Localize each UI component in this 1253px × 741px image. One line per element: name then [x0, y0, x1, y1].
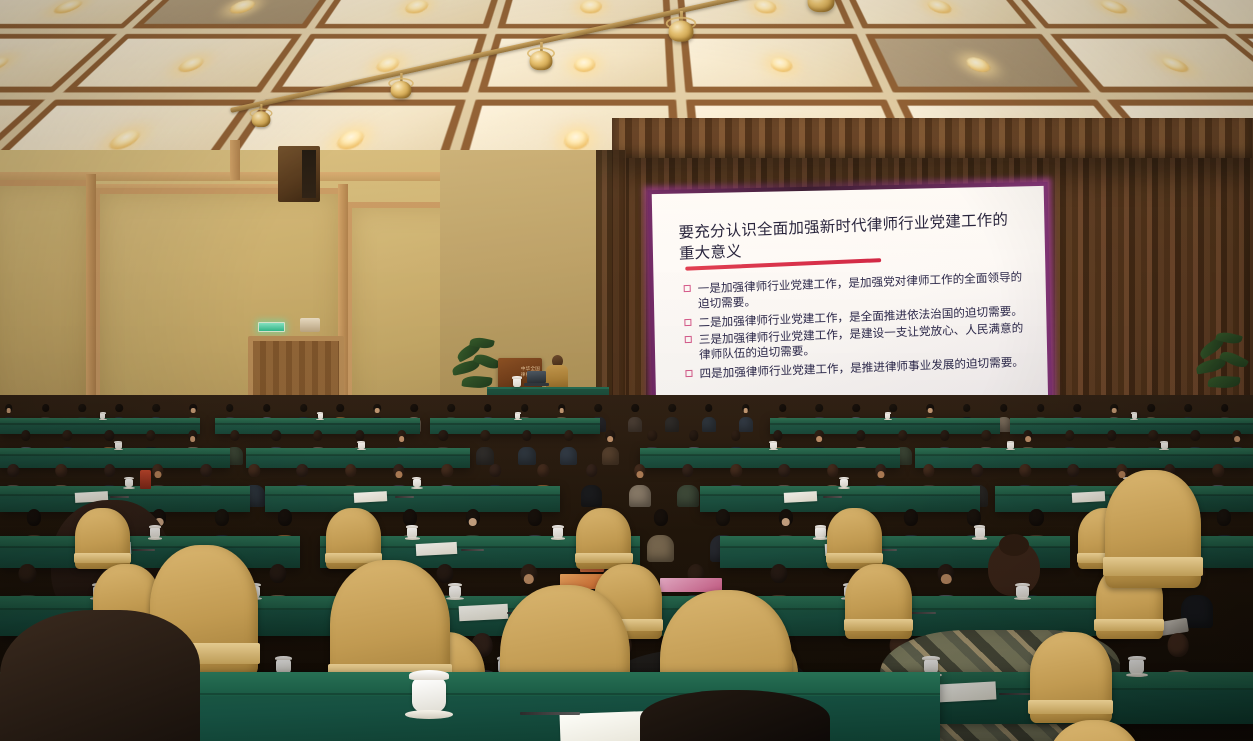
slide-bullet-list: 一是加强律师行业党建工作，是加强党对律师工作的全面领导的迫切需要。二是加强律师行…	[680, 273, 1026, 380]
banquet-table	[0, 536, 300, 568]
person-head	[940, 430, 949, 441]
person-head	[682, 464, 694, 477]
person-torso	[602, 447, 620, 465]
projection-screen-frame: 要充分认识全面加强新时代律师行业党建工作的重大意义 一是加强律师行业党建工作，是…	[648, 182, 1053, 420]
teacup-icon	[100, 413, 105, 418]
person-head	[300, 404, 308, 413]
speaker-at-table	[546, 355, 568, 391]
person-face	[816, 436, 822, 442]
person-torso	[560, 447, 578, 465]
person-head	[856, 430, 865, 441]
person-head	[1212, 464, 1224, 477]
person-head	[586, 464, 598, 477]
person-head	[631, 404, 639, 413]
person-head	[1068, 464, 1080, 477]
person-face	[1025, 436, 1031, 442]
downlight-icon	[564, 131, 589, 149]
audience-member	[633, 464, 647, 500]
person-head	[1147, 404, 1155, 413]
person-head	[853, 404, 861, 413]
bullet-square-icon	[685, 336, 692, 343]
person-head	[79, 404, 87, 413]
laptop-icon	[527, 371, 546, 383]
person-head	[8, 464, 20, 477]
teacup-icon	[515, 413, 520, 418]
person-head	[297, 464, 309, 477]
person-face	[877, 471, 884, 478]
person-head	[19, 564, 36, 584]
person-head	[152, 404, 160, 413]
person-head	[1074, 404, 1082, 413]
person-head	[889, 404, 897, 413]
audience-member	[585, 464, 599, 500]
teacup-icon	[885, 413, 890, 418]
person-torso	[581, 485, 603, 507]
person-head	[522, 430, 531, 441]
person-head	[355, 430, 364, 441]
audience-member	[631, 404, 640, 428]
teacup-icon	[150, 527, 160, 537]
person-head	[1020, 464, 1032, 477]
wall-panel-1	[0, 180, 92, 430]
person-head	[272, 430, 281, 441]
person-torso	[518, 447, 536, 465]
person-head	[982, 430, 991, 441]
person-face	[636, 471, 643, 478]
spotlight-icon	[391, 73, 412, 100]
person-torso	[665, 417, 679, 432]
teacup-icon-stage	[513, 378, 521, 387]
person-head	[538, 464, 550, 477]
person-head	[898, 430, 907, 441]
person-torso	[647, 535, 674, 562]
person-head	[1037, 404, 1045, 413]
person-face	[1112, 408, 1117, 413]
pen-icon	[999, 693, 1034, 695]
teacup-icon-foreground	[412, 678, 446, 712]
projection-screen: 要充分认识全面加强新时代律师行业党建工作的重大意义 一是加强律师行业党建工作，是…	[652, 186, 1049, 416]
person-torso	[677, 485, 699, 507]
person-head	[146, 430, 155, 441]
person-head	[21, 430, 30, 441]
banquet-table	[1010, 418, 1253, 434]
spotlight-icon	[808, 0, 835, 15]
person-head	[648, 430, 657, 441]
person-face	[468, 518, 477, 526]
person-head	[971, 464, 983, 477]
teacup-icon	[1132, 413, 1137, 418]
person-head	[705, 404, 713, 413]
audience-member	[681, 464, 695, 500]
person-head	[437, 564, 454, 584]
teacup-icon	[115, 442, 122, 449]
teacup-icon	[318, 413, 323, 418]
chair	[827, 508, 882, 569]
teacup-icon	[815, 527, 825, 537]
person-head	[215, 509, 229, 525]
person-face	[608, 436, 614, 442]
person-head	[1217, 509, 1231, 525]
banquet-table	[265, 486, 560, 512]
person-face	[375, 408, 380, 413]
teacup-icon	[358, 442, 365, 449]
audience-member	[999, 404, 1008, 428]
person-head	[42, 404, 50, 413]
chair	[576, 508, 631, 569]
person-head	[689, 430, 698, 441]
person-head	[1029, 509, 1043, 525]
person-head	[489, 464, 501, 477]
person-head	[263, 404, 271, 413]
drink-bottle	[140, 470, 151, 489]
pen-icon-foreground	[520, 712, 580, 715]
person-head	[1190, 430, 1199, 441]
person-head	[104, 464, 116, 477]
chair-foreground-far-right	[1105, 470, 1201, 588]
teacup-icon	[1161, 442, 1168, 449]
teacup-icon	[770, 442, 777, 449]
person-face	[399, 436, 405, 442]
person-face	[190, 436, 196, 442]
audience-member	[741, 404, 750, 428]
person-head	[521, 404, 529, 413]
person-head	[1107, 430, 1116, 441]
person-head	[564, 430, 573, 441]
teacup-icon	[840, 479, 848, 487]
person-head	[447, 404, 455, 413]
chair	[75, 508, 130, 569]
chair	[845, 564, 912, 639]
audience-member	[605, 430, 616, 459]
audience-member	[521, 430, 532, 459]
person-head	[56, 464, 68, 477]
person-head	[779, 464, 791, 477]
banquet-table	[430, 418, 600, 434]
person-head	[963, 404, 971, 413]
audience-member	[479, 430, 490, 459]
chair	[1030, 632, 1112, 723]
person-head	[269, 564, 286, 584]
person-torso	[628, 417, 642, 432]
person-head	[226, 404, 234, 413]
person-head	[313, 430, 322, 441]
exit-sign-icon	[258, 322, 285, 332]
person-head	[1149, 430, 1158, 441]
audience-member	[563, 430, 574, 459]
slide-title: 要充分认识全面加强新时代律师行业党建工作的重大意义	[678, 209, 1023, 266]
person-head	[105, 430, 114, 441]
person-head	[654, 509, 668, 525]
person-head	[528, 509, 542, 525]
person-head	[441, 464, 453, 477]
person-head	[484, 404, 492, 413]
teacup-icon	[1016, 586, 1028, 598]
person-head	[1221, 404, 1229, 413]
teacup-icon	[125, 479, 133, 487]
person-head	[668, 404, 676, 413]
conference-hall-photo: 要充分认识全面加强新时代律师行业党建工作的重大意义 一是加强律师行业党建工作，是…	[0, 0, 1253, 741]
banquet-table	[640, 448, 900, 468]
document-paper	[416, 542, 457, 557]
person-head	[439, 430, 448, 441]
person-head	[1065, 430, 1074, 441]
person-head	[923, 464, 935, 477]
downlight-icon	[580, 1, 602, 13]
hair-bun	[999, 534, 1029, 556]
person-head	[278, 509, 292, 525]
person-face	[6, 408, 11, 413]
banquet-table	[700, 486, 980, 512]
audience-member-foreground-center	[640, 690, 830, 741]
person-face	[1234, 436, 1240, 442]
chair	[326, 508, 381, 569]
teacup-icon	[413, 479, 421, 487]
pen-icon	[461, 549, 484, 551]
teacup-icon	[449, 586, 461, 598]
person-torso	[702, 417, 716, 432]
document-paper	[1072, 491, 1106, 503]
person-head	[1168, 633, 1189, 657]
audience-member-foreground-left	[0, 610, 200, 741]
spotlight-icon	[252, 104, 271, 128]
person-head	[1000, 404, 1008, 413]
audience-member	[667, 404, 676, 428]
person-head	[731, 430, 740, 441]
teacup-icon	[553, 527, 563, 537]
person-head	[200, 464, 212, 477]
person-face	[743, 408, 748, 413]
person-head	[779, 404, 787, 413]
person-torso	[476, 447, 494, 465]
bullet-square-icon	[684, 318, 691, 325]
person-head	[967, 509, 981, 525]
person-face	[395, 471, 402, 478]
wall-loudspeaker	[278, 146, 320, 202]
document-paper	[784, 491, 818, 503]
person-head	[730, 464, 742, 477]
bullet-square-icon	[685, 370, 692, 377]
teacup-icon	[1007, 442, 1014, 449]
person-head	[771, 564, 788, 584]
bullet-square-icon	[684, 285, 691, 292]
downlight-icon	[753, 1, 777, 13]
person-head	[773, 430, 782, 441]
wall-shelf-object	[300, 318, 320, 332]
person-face	[782, 518, 791, 526]
spotlight-icon	[530, 42, 553, 72]
person-head	[716, 509, 730, 525]
banquet-table	[246, 448, 470, 468]
person-head	[403, 509, 417, 525]
person-torso	[629, 485, 651, 507]
person-face	[559, 408, 564, 413]
document-paper	[353, 491, 387, 503]
person-face	[154, 471, 161, 478]
audience-member	[229, 430, 240, 459]
curtain-valance	[612, 118, 1253, 162]
pen-icon	[132, 549, 155, 551]
person-head	[230, 430, 239, 441]
audience-member	[704, 404, 713, 428]
teacup-icon	[975, 527, 985, 537]
spotlight-icon	[669, 11, 694, 43]
person-head	[337, 404, 345, 413]
person-head	[345, 464, 357, 477]
person-face	[928, 408, 933, 413]
teacup-icon	[407, 527, 417, 537]
person-head	[248, 464, 260, 477]
banquet-table	[770, 418, 1000, 434]
person-head	[1184, 404, 1192, 413]
teacup-icon	[1129, 659, 1144, 674]
person-head	[827, 464, 839, 477]
person-head	[410, 404, 418, 413]
person-head	[63, 430, 72, 441]
person-head	[116, 404, 124, 413]
person-head	[595, 404, 603, 413]
audience-member	[652, 509, 669, 553]
person-head	[816, 404, 824, 413]
person-face	[191, 408, 196, 413]
document-paper	[458, 604, 508, 622]
person-head	[904, 509, 918, 525]
person-head	[480, 430, 489, 441]
document-paper	[935, 682, 996, 703]
banquet-table	[915, 448, 1253, 468]
